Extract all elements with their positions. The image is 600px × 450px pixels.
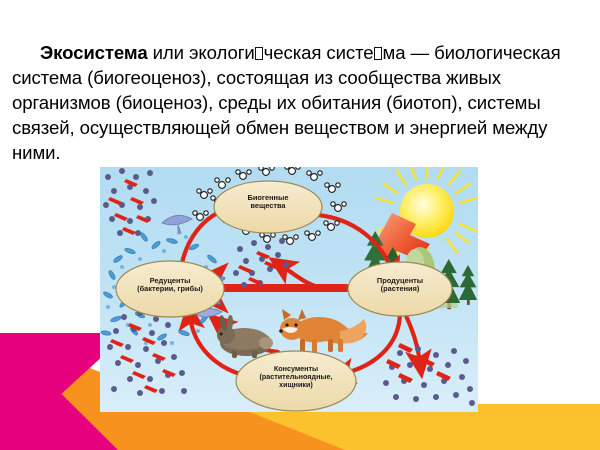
fungus-icon: [162, 215, 192, 234]
nutrient-dot-cluster-bottom-right: [383, 343, 475, 406]
missing-glyph-box-2: [374, 47, 382, 60]
paragraph-part-2: ческая систе: [264, 42, 374, 63]
nutrient-dot-cluster-bottom-left: [107, 310, 187, 396]
nutrient-dot-cluster-top-left: [103, 168, 157, 236]
ecosystem-cycle-figure: Биогенные вещества Редуценты (бактерии, …: [100, 167, 478, 412]
node-reducers-shape: [116, 261, 224, 317]
node-biogenic-shape: [214, 181, 322, 233]
node-producers-shape: [348, 262, 452, 316]
rabbit-icon: [217, 315, 273, 358]
node-consumers-shape: [236, 351, 356, 411]
fox-icon: [279, 309, 368, 353]
definition-paragraph: Экосистема или экологическая система — б…: [12, 40, 588, 165]
nutrient-dot-cluster-center: [233, 238, 289, 288]
paragraph-part-1: или экологи: [148, 42, 255, 63]
missing-glyph-box-1: [255, 47, 263, 60]
ecosystem-diagram-svg: [100, 167, 478, 412]
lead-term: Экосистема: [40, 42, 148, 63]
